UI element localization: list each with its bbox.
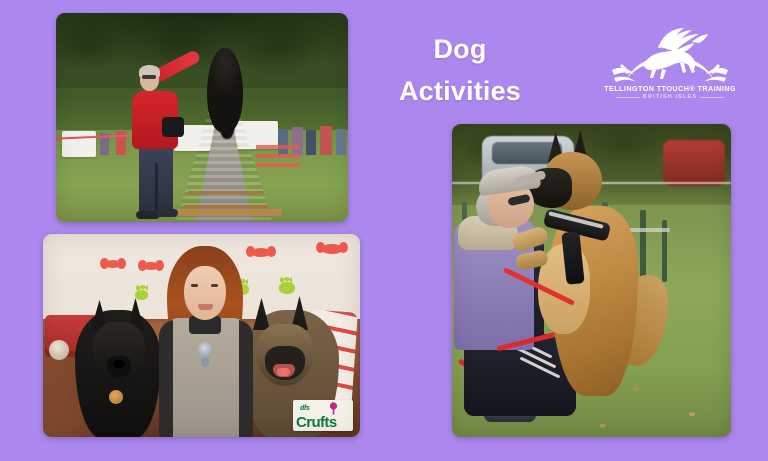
black-dog-nose <box>113 360 125 368</box>
handler-leg-split <box>155 163 158 211</box>
handler-shoe <box>156 209 178 217</box>
woman-gilet <box>159 320 253 437</box>
wall-bone-decal <box>321 244 343 254</box>
handler-sunglasses <box>142 75 156 79</box>
dfs-wordmark: dfs <box>300 405 310 412</box>
tan-dog-tongue <box>277 368 290 376</box>
red-prop-detail <box>49 340 69 360</box>
sofa-scene: dfs Crufts <box>43 234 360 437</box>
greeting-scene <box>452 124 731 437</box>
slide-canvas: Dog Activities <box>0 0 768 461</box>
wall-bone-decal <box>105 260 121 268</box>
crufts-wordmark: Crufts <box>296 415 337 430</box>
woman-pendant-necklace <box>198 342 212 358</box>
tellington-ttouch-logo: TELLINGTON TTOUCH® TRAINING BRITISH ISLE… <box>600 26 740 108</box>
woman-with-two-belgian-shepherds-photo: dfs Crufts <box>43 234 360 437</box>
agility-jump-upright <box>640 210 646 284</box>
agility-black-dog <box>207 48 243 132</box>
woman-eye <box>211 284 218 287</box>
dog-greeting-handler-photo <box>452 124 731 437</box>
agility-jump-bar <box>628 228 670 232</box>
page-title: Dog Activities <box>360 28 560 112</box>
parked-red-car <box>663 140 725 186</box>
agility-ramp-slat <box>184 205 268 208</box>
woman-mouth <box>198 304 213 310</box>
wall-bone-decal <box>251 248 271 257</box>
wall-bone-decal <box>143 262 159 270</box>
agility-scene <box>56 13 348 222</box>
agility-ramp-slat <box>188 191 264 194</box>
black-dog-collar-tag <box>109 390 123 404</box>
agility-spectator <box>320 126 332 155</box>
handler-bag <box>162 117 184 137</box>
agility-spectator <box>336 129 346 155</box>
agility-ramp-base <box>168 209 282 216</box>
logo-wordmark: TELLINGTON TTOUCH® TRAINING <box>600 84 740 93</box>
pegasus-icon <box>600 26 740 86</box>
dfs-crufts-logo: dfs Crufts <box>293 400 353 431</box>
agility-tree-shadow <box>56 13 348 88</box>
dog-agility-dogwalk-photo <box>56 13 348 222</box>
agility-spectator <box>306 130 316 155</box>
wall-paw-decal <box>279 282 295 294</box>
agility-show-tent <box>62 131 96 157</box>
page-title-line-2: Activities <box>360 70 560 112</box>
page-title-line-1: Dog <box>360 28 560 70</box>
wall-paw-decal <box>135 290 148 300</box>
woman-face <box>184 266 226 320</box>
logo-subtext: BRITISH ISLES <box>600 94 740 100</box>
woman-eye <box>191 284 198 287</box>
